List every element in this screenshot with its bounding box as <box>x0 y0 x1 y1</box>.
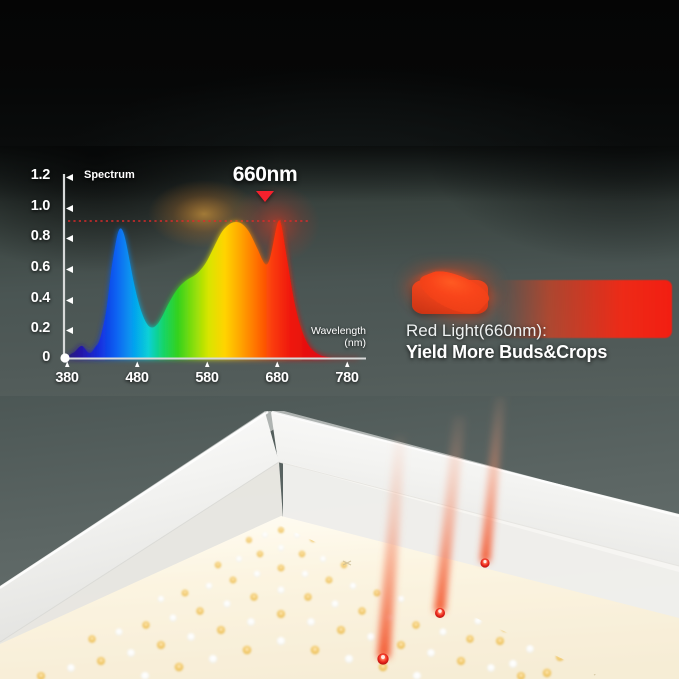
y-tick-label-0-8: 0.8 <box>20 228 50 244</box>
y-axis-title: Spectrum <box>84 169 135 181</box>
y-tick-label-1-0: 1.0 <box>20 198 50 214</box>
down-triangle-marker-icon <box>256 191 274 202</box>
x-tick-label-380: 380 <box>44 370 90 386</box>
y-tick-label-1-2: 1.2 <box>20 167 50 183</box>
red-light-callout: Red Light(660nm): Yield More Buds&Crops <box>392 258 672 388</box>
spectrum-chart: 1.2 1.0 0.8 0.6 0.4 0.2 0 380 480 580 68… <box>18 158 378 398</box>
x-tick-label-780: 780 <box>324 370 370 386</box>
y-tick-label-0-6: 0.6 <box>20 259 50 275</box>
y-tick-label-0-2: 0.2 <box>20 320 50 336</box>
x-axis-unit-text: (nm) <box>344 337 366 349</box>
spectrum-chart-svg <box>18 158 378 398</box>
axis-origin-dot <box>60 353 69 362</box>
spectrum-infographic: TS LED OPTIMIZED FULL SPECTRUM A rich re… <box>0 0 679 679</box>
x-axis-title-text: Wavelength <box>311 325 366 337</box>
led-panel-illustration <box>0 396 679 679</box>
x-tick-label-680: 680 <box>254 370 300 386</box>
y-axis-ticks <box>66 174 73 334</box>
callout-line-1: Red Light(660nm): <box>406 321 547 341</box>
callout-line-2: Yield More Buds&Crops <box>406 342 607 363</box>
x-tick-label-480: 480 <box>114 370 160 386</box>
header-band <box>0 0 679 146</box>
led-grow-light-panel <box>0 396 679 679</box>
x-tick-label-580: 580 <box>184 370 230 386</box>
y-tick-label-0-4: 0.4 <box>20 290 50 306</box>
y-tick-label-0: 0 <box>20 349 50 365</box>
x-axis-title: Wavelength(nm) <box>311 325 366 349</box>
peak-wavelength-label: 660nm <box>205 163 325 187</box>
x-axis-ticks <box>65 362 350 368</box>
